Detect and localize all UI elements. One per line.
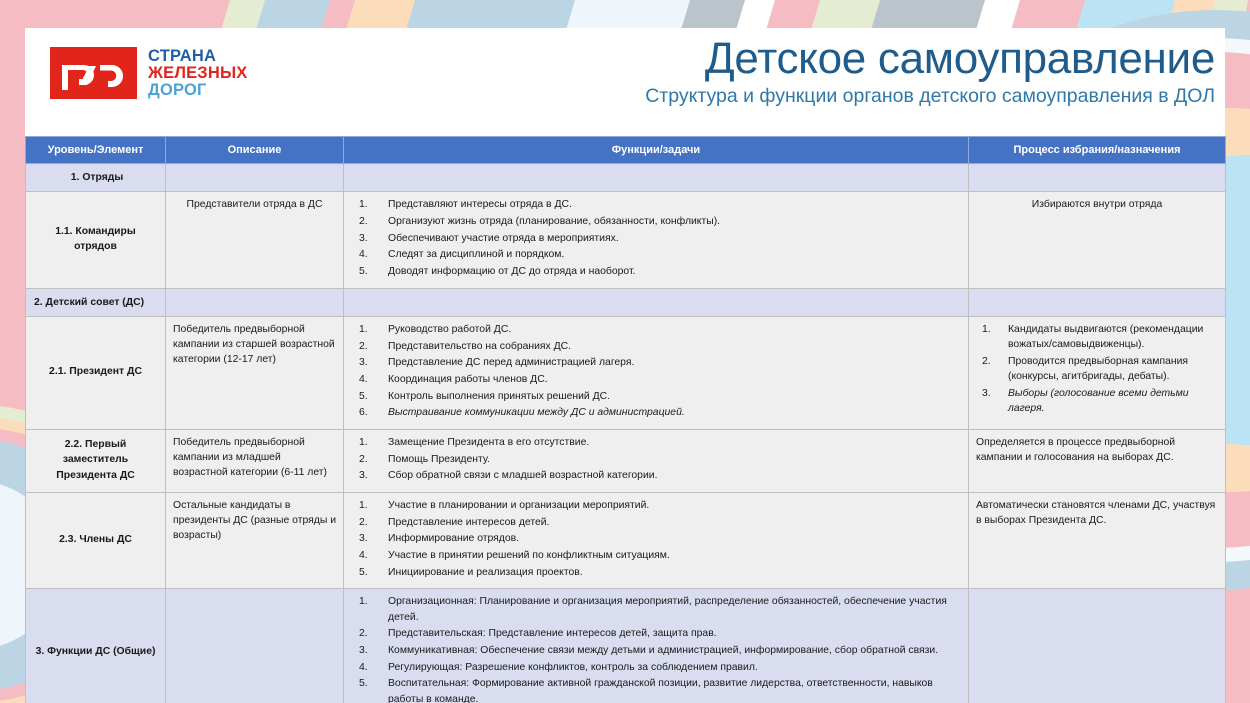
list-item: 3.Представление ДС перед администрацией … — [351, 355, 961, 370]
table-row: 1.1. Командиры отрядовПредставители отря… — [26, 192, 1226, 288]
list-item-text: Представление интересов детей. — [388, 517, 549, 528]
list-item-text: Доводят информацию от ДС до отряда и нао… — [388, 266, 635, 277]
list-item-text: Организуют жизнь отряда (планирование, о… — [388, 216, 720, 227]
cell-description — [166, 288, 344, 316]
list-item-text: Воспитательная: Формирование активной гр… — [388, 678, 933, 703]
cell-description: Победитель предвыборной кампании из стар… — [166, 316, 344, 429]
list-item: 4.Регулирующая: Разрешение конфликтов, к… — [351, 660, 961, 675]
list-item-number: 3. — [359, 643, 381, 658]
list-item: 2.Проводится предвыборная кампания (конк… — [976, 354, 1218, 384]
list-item-number: 1. — [359, 498, 381, 513]
list-item-text: Замещение Президента в его отсутствие. — [388, 437, 589, 448]
list-item-number: 1. — [982, 322, 1004, 337]
numbered-list: 1.Участие в планировании и организации м… — [351, 498, 961, 580]
cell-level: 3. Функции ДС (Общие) — [26, 589, 166, 703]
table-header-row: Уровень/Элемент Описание Функции/задачи … — [26, 137, 1226, 164]
list-item-text: Представляют интересы отряда в ДС. — [388, 199, 572, 210]
list-item-text: Представительство на собраниях ДС. — [388, 341, 571, 352]
list-item-number: 4. — [359, 660, 381, 675]
list-item: 1.Организационная: Планирование и органи… — [351, 594, 961, 624]
title-block: Детское самоуправление Структура и функц… — [645, 36, 1215, 108]
cell-functions: 1.Руководство работой ДС.2.Представитель… — [344, 316, 969, 429]
table-row: 2.2. Первый заместитель Президента ДСПоб… — [26, 429, 1226, 492]
cell-level: 2.1. Президент ДС — [26, 316, 166, 429]
cell-functions: 1.Участие в планировании и организации м… — [344, 493, 969, 589]
cell-process — [969, 164, 1226, 192]
slide-card: СТРАНА ЖЕЛЕЗНЫХ ДОРОГ Детское самоуправл… — [25, 28, 1225, 703]
cell-functions — [344, 164, 969, 192]
list-item-text: Кандидаты выдвигаются (рекомендации вожа… — [1008, 324, 1203, 350]
cell-description: Победитель предвыборной кампании из млад… — [166, 429, 344, 492]
list-item-text: Участие в принятии решений по конфликтны… — [388, 550, 670, 561]
list-item: 1.Кандидаты выдвигаются (рекомендации во… — [976, 322, 1218, 352]
list-item-number: 2. — [359, 515, 381, 530]
table-row: 3. Функции ДС (Общие)1.Организационная: … — [26, 589, 1226, 703]
list-item-number: 1. — [359, 435, 381, 450]
list-item: 5.Доводят информацию от ДС до отряда и н… — [351, 264, 961, 279]
structure-table: Уровень/Элемент Описание Функции/задачи … — [25, 136, 1226, 703]
numbered-list: 1.Представляют интересы отряда в ДС.2.Ор… — [351, 197, 961, 279]
col-header-level: Уровень/Элемент — [26, 137, 166, 164]
table-section-row: 1. Отряды — [26, 164, 1226, 192]
cell-functions: 1.Организационная: Планирование и органи… — [344, 589, 969, 703]
list-item-text: Координация работы членов ДС. — [388, 374, 548, 385]
list-item-text: Представительская: Представление интерес… — [388, 628, 717, 639]
table-row: 2.3. Члены ДСОстальные кандидаты в прези… — [26, 493, 1226, 589]
brand-line-1: СТРАНА — [148, 48, 248, 65]
list-item: 1.Представляют интересы отряда в ДС. — [351, 197, 961, 212]
cell-process: Избираются внутри отряда — [969, 192, 1226, 288]
list-item: 1.Руководство работой ДС. — [351, 322, 961, 337]
cell-description: Представители отряда в ДС — [166, 192, 344, 288]
list-item-text: Руководство работой ДС. — [388, 324, 511, 335]
list-item-text: Проводится предвыборная кампания (конкур… — [1008, 356, 1188, 382]
list-item-text: Коммуникативная: Обеспечение связи между… — [388, 645, 938, 656]
list-item: 5.Контроль выполнения принятых решений Д… — [351, 389, 961, 404]
list-item-text: Регулирующая: Разрешение конфликтов, кон… — [388, 662, 758, 673]
cell-level: 2. Детский совет (ДС) — [26, 288, 166, 316]
cell-functions: 1.Замещение Президента в его отсутствие.… — [344, 429, 969, 492]
list-item-number: 2. — [359, 214, 381, 229]
cell-functions: 1.Представляют интересы отряда в ДС.2.Ор… — [344, 192, 969, 288]
list-item-number: 6. — [359, 405, 381, 420]
list-item: 5.Воспитательная: Формирование активной … — [351, 676, 961, 703]
list-item: 2.Представительская: Представление интер… — [351, 626, 961, 641]
list-item-number: 5. — [359, 565, 381, 580]
list-item-text: Обеспечивают участие отряда в мероприяти… — [388, 233, 619, 244]
list-item-number: 1. — [359, 197, 381, 212]
table-body: 1. Отряды1.1. Командиры отрядовПредстави… — [26, 164, 1226, 703]
list-item-number: 4. — [359, 372, 381, 387]
cell-description — [166, 164, 344, 192]
brand-wordmark: СТРАНА ЖЕЛЕЗНЫХ ДОРОГ — [148, 47, 248, 98]
list-item: 3.Информирование отрядов. — [351, 531, 961, 546]
brand-line-3: ДОРОГ — [148, 82, 248, 99]
list-item-number: 4. — [359, 548, 381, 563]
list-item-number: 3. — [359, 231, 381, 246]
list-item-text: Инициирование и реализация проектов. — [388, 567, 583, 578]
list-item-number: 3. — [359, 355, 381, 370]
cell-process: Определяется в процессе предвыборной кам… — [969, 429, 1226, 492]
cell-level: 2.2. Первый заместитель Президента ДС — [26, 429, 166, 492]
cell-functions — [344, 288, 969, 316]
list-item-number: 2. — [359, 339, 381, 354]
brand-lockup: СТРАНА ЖЕЛЕЗНЫХ ДОРОГ — [50, 47, 248, 99]
list-item: 2.Помощь Президенту. — [351, 452, 961, 467]
list-item-number: 5. — [359, 389, 381, 404]
list-item-text: Сбор обратной связи с младшей возрастной… — [388, 470, 657, 481]
numbered-list: 1.Кандидаты выдвигаются (рекомендации во… — [976, 322, 1218, 416]
rzd-logo-icon — [50, 47, 137, 99]
cell-description: Остальные кандидаты в президенты ДС (раз… — [166, 493, 344, 589]
cell-process: Автоматически становятся членами ДС, уча… — [969, 493, 1226, 589]
list-item-text: Выстраивание коммуникации между ДС и адм… — [388, 407, 685, 418]
cell-process — [969, 589, 1226, 703]
cell-process: 1.Кандидаты выдвигаются (рекомендации во… — [969, 316, 1226, 429]
list-item: 2.Организуют жизнь отряда (планирование,… — [351, 214, 961, 229]
list-item: 3.Коммуникативная: Обеспечение связи меж… — [351, 643, 961, 658]
list-item-text: Помощь Президенту. — [388, 454, 490, 465]
list-item: 2.Представление интересов детей. — [351, 515, 961, 530]
list-item-text: Контроль выполнения принятых решений ДС. — [388, 391, 610, 402]
list-item-number: 3. — [359, 468, 381, 483]
numbered-list: 1.Замещение Президента в его отсутствие.… — [351, 435, 961, 484]
list-item-number: 1. — [359, 594, 381, 609]
list-item: 6.Выстраивание коммуникации между ДС и а… — [351, 405, 961, 420]
list-item-number: 2. — [359, 626, 381, 641]
brand-line-2: ЖЕЛЕЗНЫХ — [148, 65, 248, 82]
table-container: Уровень/Элемент Описание Функции/задачи … — [25, 136, 1225, 703]
cell-description — [166, 589, 344, 703]
list-item: 1.Замещение Президента в его отсутствие. — [351, 435, 961, 450]
cell-process — [969, 288, 1226, 316]
cell-level: 1. Отряды — [26, 164, 166, 192]
list-item-text: Следят за дисциплиной и порядком. — [388, 249, 564, 260]
list-item: 3.Обеспечивают участие отряда в мероприя… — [351, 231, 961, 246]
list-item-number: 5. — [359, 264, 381, 279]
col-header-functions: Функции/задачи — [344, 137, 969, 164]
list-item: 5.Инициирование и реализация проектов. — [351, 565, 961, 580]
list-item: 4.Участие в принятии решений по конфликт… — [351, 548, 961, 563]
list-item-number: 1. — [359, 322, 381, 337]
list-item-number: 3. — [982, 386, 1004, 401]
list-item: 4.Координация работы членов ДС. — [351, 372, 961, 387]
col-header-process: Процесс избрания/назначения — [969, 137, 1226, 164]
list-item-text: Информирование отрядов. — [388, 533, 519, 544]
numbered-list: 1.Руководство работой ДС.2.Представитель… — [351, 322, 961, 421]
list-item: 2.Представительство на собраниях ДС. — [351, 339, 961, 354]
table-section-row: 2. Детский совет (ДС) — [26, 288, 1226, 316]
list-item-number: 5. — [359, 676, 381, 691]
list-item-text: Выборы (голосование всеми детьми лагеря. — [1008, 388, 1189, 414]
list-item-text: Организационная: Планирование и организа… — [388, 596, 947, 622]
list-item-number: 2. — [359, 452, 381, 467]
list-item-number: 4. — [359, 247, 381, 262]
list-item: 1.Участие в планировании и организации м… — [351, 498, 961, 513]
col-header-description: Описание — [166, 137, 344, 164]
cell-level: 2.3. Члены ДС — [26, 493, 166, 589]
list-item-number: 3. — [359, 531, 381, 546]
page-subtitle: Структура и функции органов детского сам… — [645, 85, 1215, 108]
list-item: 3.Сбор обратной связи с младшей возрастн… — [351, 468, 961, 483]
cell-level: 1.1. Командиры отрядов — [26, 192, 166, 288]
list-item-text: Участие в планировании и организации мер… — [388, 500, 649, 511]
table-row: 2.1. Президент ДСПобедитель предвыборной… — [26, 316, 1226, 429]
page-title: Детское самоуправление — [645, 36, 1215, 82]
list-item-text: Представление ДС перед администрацией ла… — [388, 357, 634, 368]
slide-header: СТРАНА ЖЕЛЕЗНЫХ ДОРОГ Детское самоуправл… — [25, 28, 1225, 136]
list-item: 3.Выборы (голосование всеми детьми лагер… — [976, 386, 1218, 416]
list-item: 4.Следят за дисциплиной и порядком. — [351, 247, 961, 262]
list-item-number: 2. — [982, 354, 1004, 369]
numbered-list: 1.Организационная: Планирование и органи… — [351, 594, 961, 703]
